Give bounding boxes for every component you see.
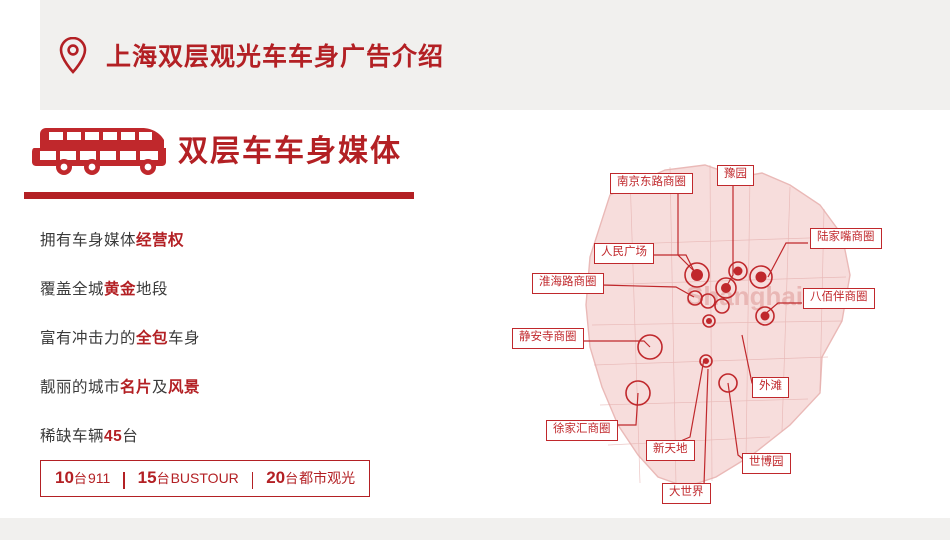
divider <box>123 472 124 489</box>
bullet-text-pre: 靓丽的城市 <box>40 379 120 396</box>
map-label-nanjingdonglu: 南京东路商圈 <box>610 173 693 194</box>
fleet-count-number: 20 <box>266 468 285 488</box>
map-label-yuyuan: 豫园 <box>717 165 754 186</box>
map-label-xujiahui: 徐家汇商圈 <box>546 420 618 441</box>
section-title: 双层车车身媒体 <box>178 126 402 170</box>
slide-page: 上海双层观光车车身广告介绍 <box>0 0 950 540</box>
bullet-text-pre: 覆盖全城 <box>40 281 104 298</box>
page-title: 上海双层观光车车身广告介绍 <box>106 37 444 73</box>
fleet-count-box: 10台911 15台BUSTOUR 20台都市观光 <box>40 460 370 497</box>
fleet-count-number: 10 <box>55 468 74 488</box>
fleet-count-number: 15 <box>138 468 157 488</box>
bullet-text-post: 台 <box>122 428 138 445</box>
map-label-dashijie: 大世界 <box>662 483 711 504</box>
bullet-text-highlight: 名片 <box>120 379 152 396</box>
map-label-shibo: 世博园 <box>742 453 791 474</box>
map-label-renminguangchang: 人民广场 <box>594 243 654 264</box>
map-label-waitan: 外滩 <box>752 377 789 398</box>
map-label-xintiandi: 新天地 <box>646 440 695 461</box>
bullet-text-post: 地段 <box>136 281 168 298</box>
fleet-count-item-citysightseeing: 20台都市观光 <box>266 468 355 488</box>
footer-band <box>0 518 950 540</box>
fleet-count-label: BUSTOUR <box>171 470 239 486</box>
fleet-count-item-bustour: 15台BUSTOUR <box>138 468 239 488</box>
left-content-column: 双层车车身媒体 拥有车身媒体经营权 覆盖全城黄金地段 富有冲击力的全包车身 靓丽… <box>0 120 490 520</box>
section-heading-row: 双层车车身媒体 <box>24 120 490 190</box>
list-item: 拥有车身媒体经营权 <box>40 228 460 250</box>
double-decker-bus-icon <box>24 118 176 185</box>
location-pin-icon <box>58 36 88 74</box>
bullet-text-pre: 富有冲击力的 <box>40 330 136 347</box>
shanghai-map: Shanghai <box>490 125 950 515</box>
bullet-text-highlight: 经营权 <box>136 232 184 249</box>
header-left-accent <box>0 0 40 110</box>
map-label-jinganshi: 静安寺商圈 <box>512 328 584 349</box>
bullet-text-highlight: 45 <box>104 428 122 445</box>
list-item: 覆盖全城黄金地段 <box>40 277 460 299</box>
fleet-count-unit: 台 <box>285 468 298 487</box>
bullet-text-highlight-2: 风景 <box>168 379 200 396</box>
header-content: 上海双层观光车车身广告介绍 <box>58 36 444 74</box>
bullet-text-post: 及 <box>152 379 168 396</box>
map-label-babaiban: 八佰伴商圈 <box>803 288 875 309</box>
bullet-text-highlight: 黄金 <box>104 281 136 298</box>
fleet-count-label: 911 <box>88 470 110 486</box>
section-title-underline <box>24 192 414 199</box>
header-band: 上海双层观光车车身广告介绍 <box>0 0 950 110</box>
bullet-text-pre: 拥有车身媒体 <box>40 232 136 249</box>
bullet-text-pre: 稀缺车辆 <box>40 428 104 445</box>
fleet-count-label: 都市观光 <box>299 468 355 488</box>
fleet-count-unit: 台 <box>157 468 170 487</box>
fleet-count-item-911: 10台911 <box>55 468 110 488</box>
list-item: 富有冲击力的全包车身 <box>40 326 460 348</box>
map-label-huaihailu: 淮海路商圈 <box>532 273 604 294</box>
map-label-lujiazui: 陆家嘴商圈 <box>810 228 882 249</box>
list-item: 靓丽的城市名片及风景 <box>40 375 460 397</box>
list-item: 稀缺车辆45台 <box>40 424 460 446</box>
divider <box>252 472 253 489</box>
bullet-text-highlight: 全包 <box>136 330 168 347</box>
bullet-text-post: 车身 <box>168 330 200 347</box>
fleet-count-unit: 台 <box>74 468 87 487</box>
bullet-list: 拥有车身媒体经营权 覆盖全城黄金地段 富有冲击力的全包车身 靓丽的城市名片及风景… <box>40 228 460 473</box>
